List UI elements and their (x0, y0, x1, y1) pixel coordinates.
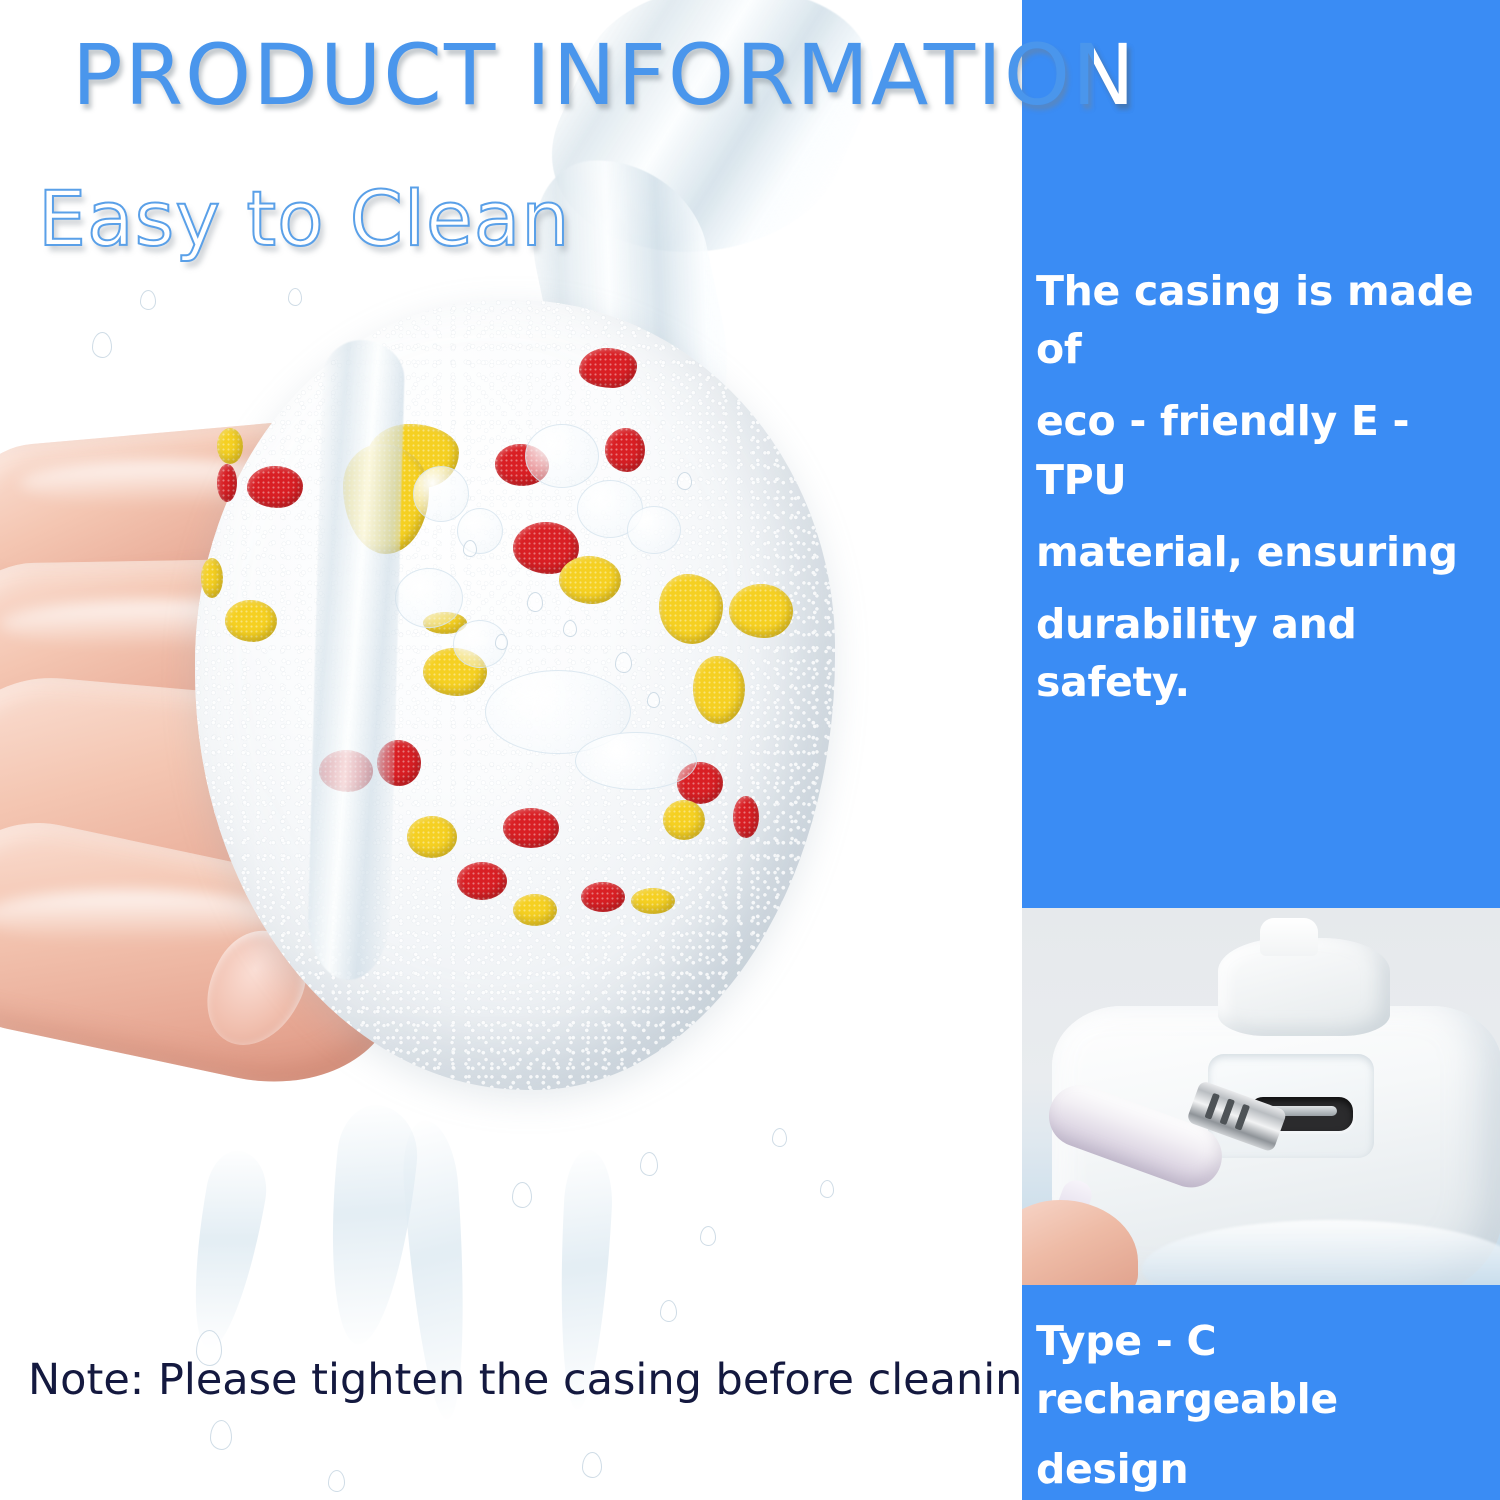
water-droplet (563, 620, 577, 637)
surface-bubble (395, 568, 463, 628)
ball-spot-red (217, 464, 237, 502)
ball-spot-red (503, 808, 559, 848)
usb-caption-line: design (1036, 1440, 1500, 1498)
cleaning-note: Note: Please tighten the casing before c… (28, 1355, 1022, 1405)
page-subtitle: Easy to Clean (38, 174, 570, 263)
ball-spot-yellow (201, 558, 223, 598)
water-droplet (328, 1470, 345, 1492)
water-droplet (92, 332, 112, 358)
water-droplet (772, 1128, 787, 1147)
ball-spot-yellow (693, 656, 745, 724)
ball-spot-red (457, 862, 507, 900)
water-droplet (512, 1182, 532, 1208)
ball-spot-red (579, 348, 637, 388)
plug-contact (1204, 1093, 1219, 1120)
ball-spot-red (733, 796, 759, 838)
water-over-ball (307, 339, 406, 981)
ball-spot-yellow (407, 816, 457, 858)
spotted-ball-product (195, 300, 835, 1090)
water-droplet (640, 1152, 658, 1176)
water-droplet (140, 290, 156, 310)
ball-spot-yellow (225, 600, 277, 642)
usb-c-charging-photo (1022, 908, 1500, 1285)
surface-bubble (413, 466, 469, 522)
feature-text-line: The casing is made of (1036, 262, 1500, 378)
usb-caption-line: Type - C rechargeable (1036, 1312, 1500, 1428)
surface-bubble (525, 424, 599, 488)
plug-contact (1235, 1104, 1250, 1131)
ball-spot-yellow (631, 888, 675, 914)
plug-contact (1220, 1098, 1235, 1125)
water-droplet (660, 1300, 677, 1322)
ball-spot-yellow (729, 584, 793, 638)
ball-spot-yellow (513, 894, 557, 926)
water-droplet (527, 592, 543, 612)
ball-spot-yellow (217, 428, 243, 464)
feature-text-line: eco - friendly E - TPU (1036, 392, 1500, 508)
water-droplet (820, 1180, 834, 1198)
ball-spot-red (605, 428, 645, 472)
surface-bubble (627, 506, 681, 554)
ball-spot-yellow (659, 574, 723, 644)
water-droplet (582, 1452, 602, 1478)
water-droplet (647, 692, 660, 708)
product-information-infographic: Note: Please tighten the casing before c… (0, 0, 1500, 1500)
water-droplet (700, 1226, 716, 1246)
feature-text-line: material, ensuring (1036, 523, 1500, 581)
ball-spot-yellow (559, 556, 621, 604)
surface-bubble (575, 732, 697, 790)
water-droplet (288, 288, 302, 306)
device-nozzle-cap (1260, 918, 1318, 956)
water-droplet (677, 472, 692, 490)
water-droplet (210, 1420, 232, 1450)
ball-spot-red (581, 882, 625, 912)
usb-caption-block: Type - C rechargeable design (1036, 1312, 1500, 1500)
ball-spot-red (247, 466, 303, 508)
feature-text-block: The casing is made of eco - friendly E -… (1036, 262, 1500, 726)
water-droplet (463, 540, 477, 557)
ball-spot-yellow (663, 800, 705, 840)
right-info-panel: The casing is made of eco - friendly E -… (1022, 0, 1500, 1500)
water-droplet (615, 652, 632, 673)
feature-text-line: durability and safety. (1036, 595, 1500, 711)
water-droplet (495, 634, 508, 650)
